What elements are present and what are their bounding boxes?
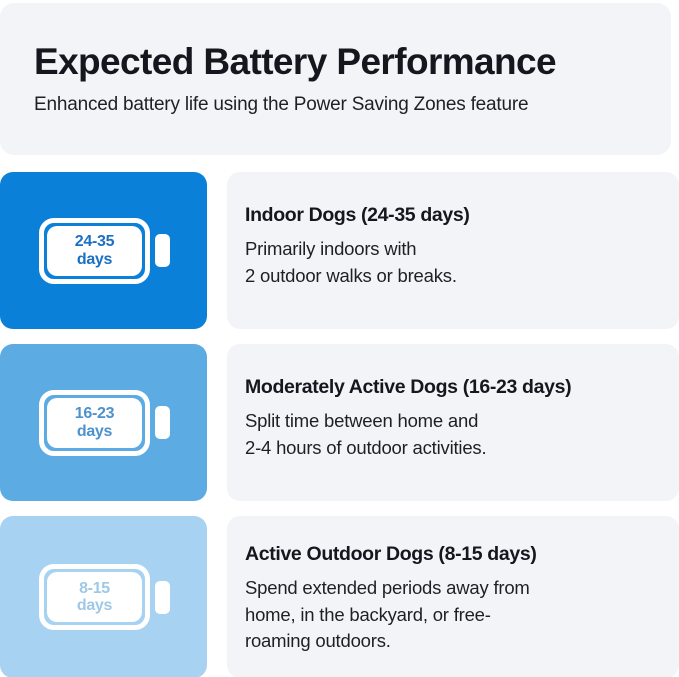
battery-icon: 8-15 days — [39, 564, 170, 630]
battery-nub-icon — [155, 406, 170, 439]
battery-row: 16-23 days Moderately Active Dogs (16-23… — [0, 344, 679, 501]
battery-range-label: 24-35 — [75, 233, 114, 250]
battery-inner: 16-23 days — [47, 398, 142, 448]
description-line: home, in the backyard, or free- — [245, 602, 653, 628]
description-line: roaming outdoors. — [245, 628, 653, 654]
battery-text-panel: Moderately Active Dogs (16-23 days) Spli… — [227, 344, 679, 501]
description-line: 2 outdoor walks or breaks. — [245, 263, 653, 289]
page-title: Expected Battery Performance — [34, 41, 637, 84]
battery-row-title: Active Outdoor Dogs (8-15 days) — [245, 543, 653, 566]
battery-icon: 16-23 days — [39, 390, 170, 456]
battery-range-label: 8-15 — [79, 580, 110, 597]
battery-row: 8-15 days Active Outdoor Dogs (8-15 days… — [0, 516, 679, 677]
battery-body: 16-23 days — [39, 390, 150, 456]
battery-tile-active: 8-15 days — [0, 516, 207, 677]
battery-icon: 24-35 days — [39, 218, 170, 284]
battery-range-label: 16-23 — [75, 405, 114, 422]
battery-row: 24-35 days Indoor Dogs (24-35 days) Prim… — [0, 172, 679, 329]
battery-inner: 8-15 days — [47, 572, 142, 622]
page-subtitle: Enhanced battery life using the Power Sa… — [34, 94, 637, 117]
battery-row-description: Spend extended periods away from home, i… — [245, 575, 653, 654]
description-line: Spend extended periods away from — [245, 575, 653, 601]
battery-tile-indoor: 24-35 days — [0, 172, 207, 329]
battery-row-description: Split time between home and 2-4 hours of… — [245, 408, 653, 461]
battery-performance-infographic: Expected Battery Performance Enhanced ba… — [0, 0, 679, 677]
battery-nub-icon — [155, 581, 170, 614]
battery-unit-label: days — [77, 423, 112, 440]
battery-text-panel: Indoor Dogs (24-35 days) Primarily indoo… — [227, 172, 679, 329]
battery-unit-label: days — [77, 251, 112, 268]
battery-nub-icon — [155, 234, 170, 267]
battery-body: 8-15 days — [39, 564, 150, 630]
battery-inner: 24-35 days — [47, 226, 142, 276]
battery-body: 24-35 days — [39, 218, 150, 284]
description-line: 2-4 hours of outdoor activities. — [245, 435, 653, 461]
description-line: Primarily indoors with — [245, 236, 653, 262]
battery-row-description: Primarily indoors with 2 outdoor walks o… — [245, 236, 653, 289]
description-line: Split time between home and — [245, 408, 653, 434]
battery-rows: 24-35 days Indoor Dogs (24-35 days) Prim… — [0, 172, 679, 677]
battery-row-title: Indoor Dogs (24-35 days) — [245, 204, 653, 227]
header-card: Expected Battery Performance Enhanced ba… — [0, 3, 671, 155]
battery-text-panel: Active Outdoor Dogs (8-15 days) Spend ex… — [227, 516, 679, 677]
battery-unit-label: days — [77, 597, 112, 614]
battery-tile-moderate: 16-23 days — [0, 344, 207, 501]
battery-row-title: Moderately Active Dogs (16-23 days) — [245, 376, 653, 399]
